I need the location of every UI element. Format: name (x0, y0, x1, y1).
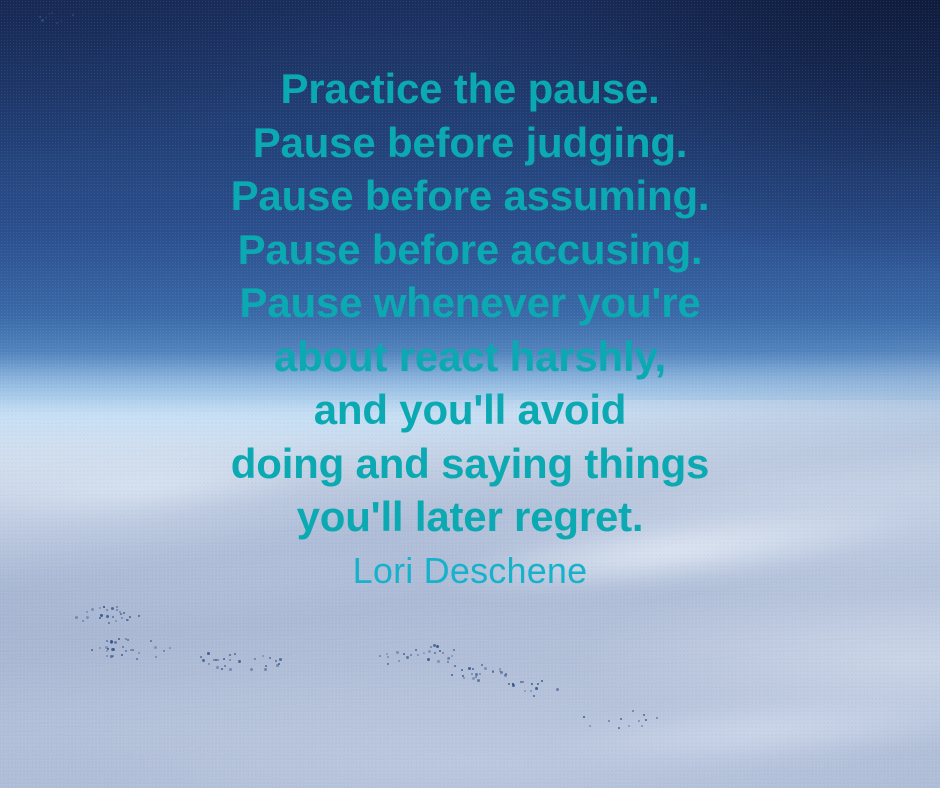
quote-line-9: you'll later regret. (0, 490, 940, 544)
quote-line-6: about react harshly, (0, 330, 940, 384)
quote-line-7: and you'll avoid (0, 383, 940, 437)
quote-text-block: Practice the pause. Pause before judging… (0, 62, 940, 592)
quote-attribution: Lori Deschene (0, 550, 940, 592)
quote-line-8: doing and saying things (0, 437, 940, 491)
quote-line-2: Pause before judging. (0, 116, 940, 170)
quote-line-3: Pause before assuming. (0, 169, 940, 223)
quote-line-5: Pause whenever you're (0, 276, 940, 330)
quote-line-1: Practice the pause. (0, 62, 940, 116)
quote-line-4: Pause before accusing. (0, 223, 940, 277)
quote-image-canvas: Practice the pause. Pause before judging… (0, 0, 940, 788)
